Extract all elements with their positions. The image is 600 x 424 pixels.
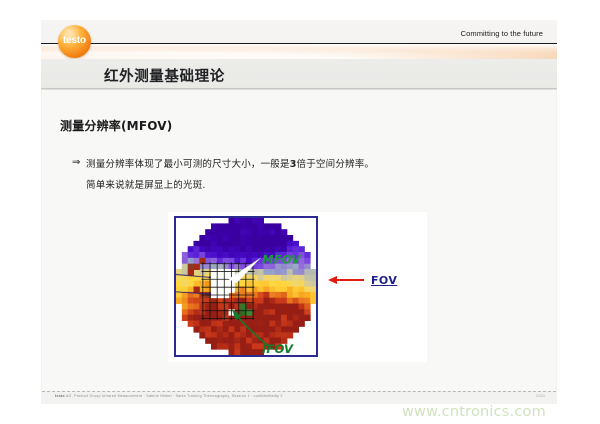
thermogram-frame [174, 216, 318, 357]
watermark-text: www.cntronics.com [402, 404, 546, 420]
header-color-band [41, 44, 557, 59]
testo-logo-text: testo [58, 36, 91, 46]
section-heading: 测量分辨率(MFOV) [60, 117, 172, 134]
footer-company: testo [55, 394, 65, 398]
bullet-line-1-part-a: 测量分辨率体现了最小可测的尺寸大小，一般是 [86, 159, 290, 170]
bullet-line-1: 测量分辨率体现了最小可测的尺寸大小，一般是3倍于空间分辨率。 [86, 156, 374, 170]
fov-label: FOV [371, 274, 397, 287]
page-canvas: testo Committing to the future 红外测量基础理论 … [0, 0, 600, 424]
slide-header [41, 20, 557, 59]
bullet-line-2: 简单来说就是屏显上的光斑. [86, 177, 206, 191]
presentation-slide: testo Committing to the future 红外测量基础理论 … [41, 20, 557, 404]
footer-text: testo AG, Product Group Infrared Measure… [55, 394, 283, 398]
header-rule [41, 43, 557, 44]
bullet-line-1-emphasis: 3 [290, 159, 297, 170]
figure-panel: FOV [168, 212, 427, 362]
slide-body: 测量分辨率(MFOV) ⇒ 测量分辨率体现了最小可测的尺寸大小，一般是3倍于空间… [42, 89, 556, 391]
fov-arrow-icon [326, 272, 370, 288]
thermogram-image [176, 218, 316, 355]
footer-divider [42, 391, 556, 392]
bullet-marker-icon: ⇒ [72, 157, 80, 168]
bullet-line-1-part-c: 倍于空间分辨率。 [297, 159, 375, 170]
brand-tagline: Committing to the future [461, 29, 543, 38]
slide-title: 红外测量基础理论 [104, 65, 225, 86]
page-number: 21/31 [536, 394, 545, 398]
footer-detail: AG, Product Group Infrared Measurement ·… [65, 394, 283, 398]
